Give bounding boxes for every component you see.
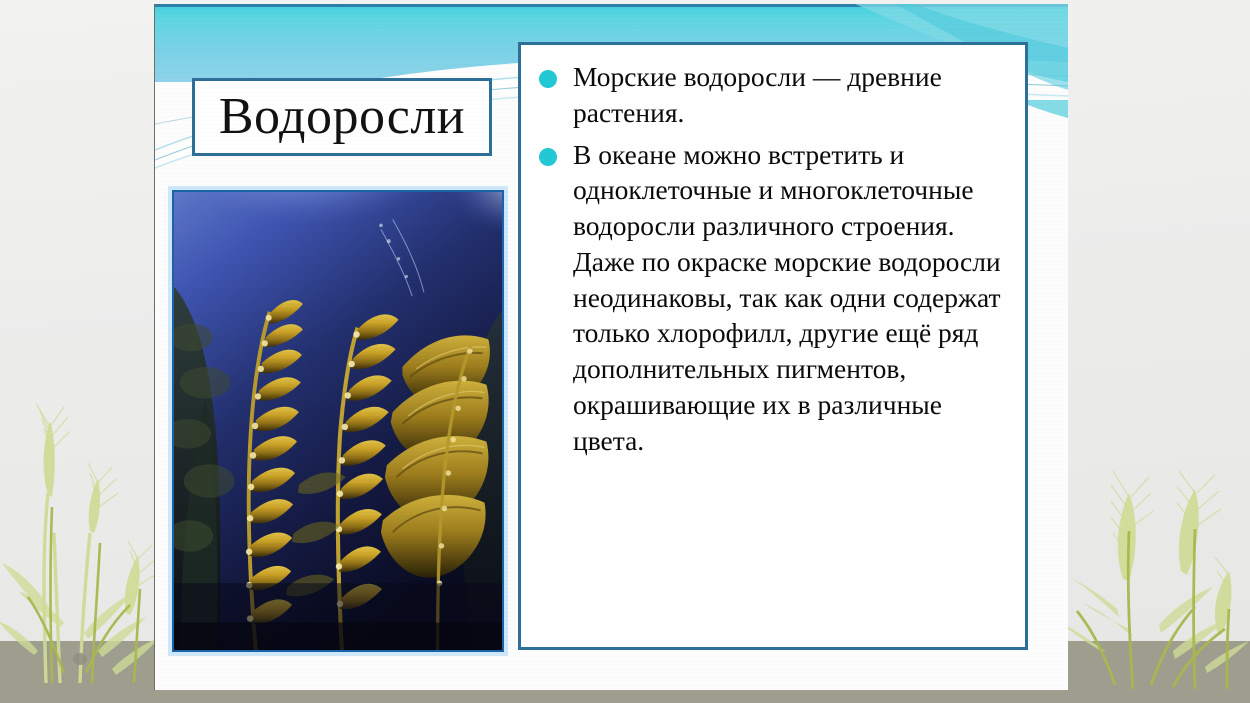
- bullet-dot-icon: [539, 70, 557, 88]
- bullet-dot-icon: [539, 148, 557, 166]
- page-title: Водоросли: [219, 91, 465, 143]
- backdrop-ground-strip-right: [1065, 651, 1250, 703]
- bullet-list: Морские водоросли — древние растения. В …: [531, 59, 1009, 458]
- bullet-text: В океане можно встретить и одноклеточные…: [573, 139, 1001, 456]
- wheat-grass-decoration-icon: [0, 383, 169, 683]
- presentation-slide: Водоросли: [155, 4, 1068, 690]
- bullet-text: Морские водоросли — древние растения.: [573, 61, 942, 128]
- slide-screenshot: Водоросли: [0, 0, 1250, 703]
- slide-body-textbox: Морские водоросли — древние растения. В …: [518, 42, 1028, 650]
- list-item: Морские водоросли — древние растения.: [531, 59, 1009, 131]
- kelp-forest-image: [168, 186, 508, 656]
- list-item: В океане можно встретить и одноклеточные…: [531, 137, 1009, 459]
- slide-title-box: Водоросли: [192, 78, 492, 156]
